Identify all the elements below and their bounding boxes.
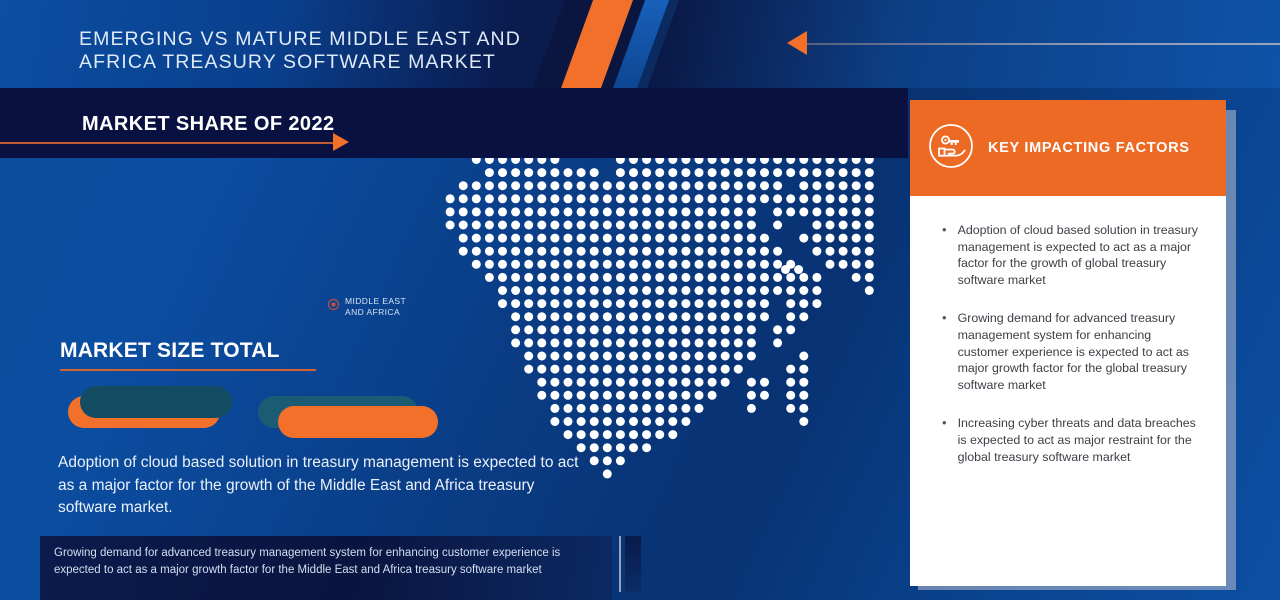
page-title: EMERGING VS MATURE MIDDLE EAST AND AFRIC… [79,28,549,74]
map-legend-label: MIDDLE EAST AND AFRICA [345,296,406,317]
map-legend: MIDDLE EAST AND AFRICA [328,296,406,317]
mature-market-badge-shadow [80,386,232,418]
market-size-description: Adoption of cloud based solution in trea… [58,452,586,520]
footer-text: Growing demand for advanced treasury man… [54,545,594,578]
key-factor-text: Adoption of cloud based solution in trea… [958,222,1202,288]
key-factor-text: Increasing cyber threats and data breach… [958,415,1202,465]
bullet-icon: • [942,222,947,288]
bullet-icon: • [942,415,947,465]
infographic-canvas: EMERGING VS MATURE MIDDLE EAST AND AFRIC… [0,0,1280,600]
mature-market-badge[interactable]: Mature Market [68,396,220,428]
key-factors-title: KEY IMPACTING FACTORS [988,140,1190,156]
market-share-label: MARKET SHARE OF 2022 [82,113,335,136]
emerging-market-badge[interactable]: Emerging Market [258,396,418,428]
arrow-left-icon [787,31,807,55]
market-size-title: MARKET SIZE TOTAL [60,339,280,363]
hand-holding-key-icon [928,123,974,174]
footer-divider [619,536,621,592]
arrow-right-icon [333,133,349,151]
market-share-rule [0,142,336,144]
target-circle-icon [328,297,339,315]
key-factors-header: KEY IMPACTING FACTORS [910,100,1226,196]
market-size-rule [60,369,316,371]
header-arrow-line [806,43,1280,45]
bullet-icon: • [942,310,947,393]
map-legend-line-2: AND AFRICA [345,307,400,317]
footer-accent-block [625,536,641,592]
map-legend-line-1: MIDDLE EAST [345,296,406,306]
key-factor-item: •Increasing cyber threats and data breac… [942,415,1202,465]
key-factors-list: •Adoption of cloud based solution in tre… [910,222,1226,487]
key-factor-item: •Adoption of cloud based solution in tre… [942,222,1202,288]
key-factor-item: •Growing demand for advanced treasury ma… [942,310,1202,393]
key-factor-text: Growing demand for advanced treasury man… [958,310,1202,393]
emerging-market-badge-shadow [278,406,438,438]
